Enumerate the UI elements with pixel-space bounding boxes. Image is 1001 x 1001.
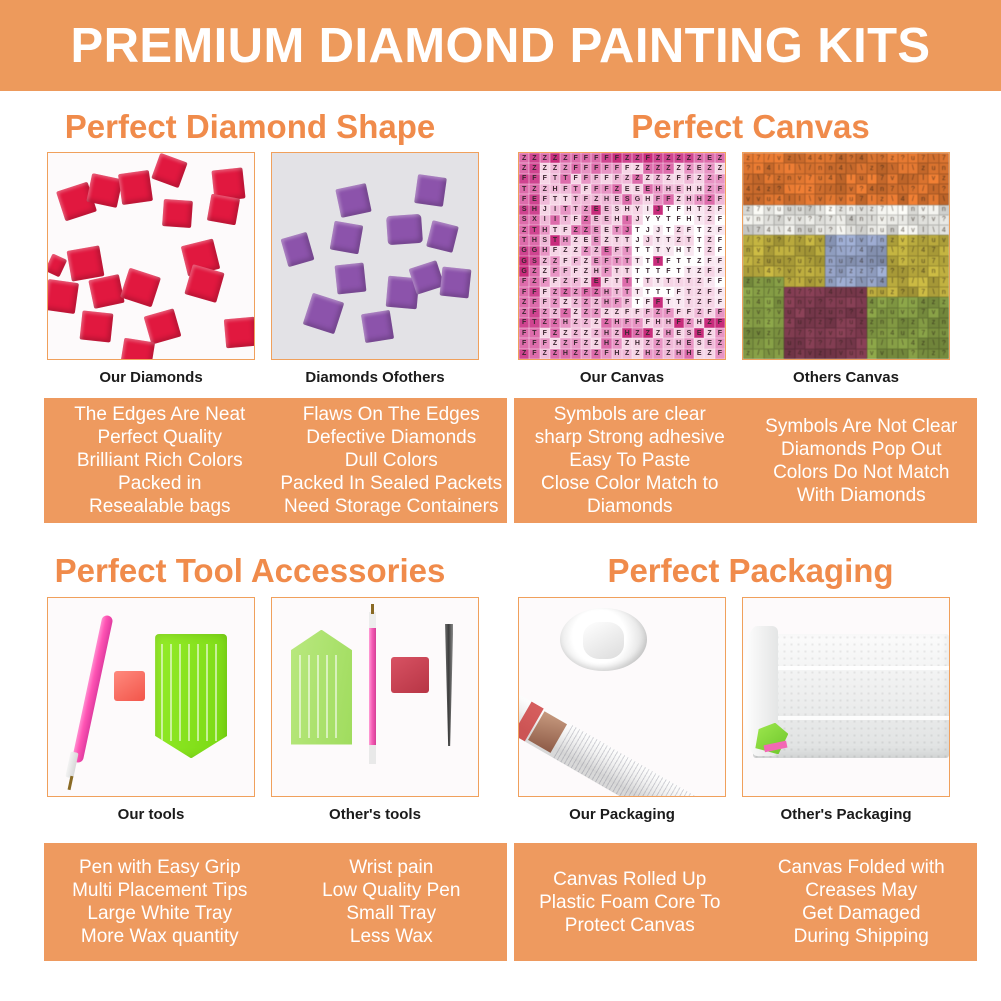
- canvas-symbol-cell: l: [887, 277, 897, 287]
- canvas-symbol-cell: F: [550, 246, 560, 256]
- canvas-symbol-cell: F: [684, 308, 694, 318]
- canvas-symbol-cell: 4: [918, 246, 928, 256]
- canvas-symbol-cell: F: [529, 349, 539, 359]
- fact-line: Low Quality Pen: [322, 879, 460, 902]
- canvas-symbol-cell: v: [908, 215, 918, 225]
- canvas-symbol-cell: E: [591, 225, 601, 235]
- canvas-symbol-cell: v: [743, 308, 753, 318]
- canvas-symbol-cell: ?: [887, 266, 897, 276]
- canvas-symbol-cell: /: [784, 328, 794, 338]
- fact-line: Packed in: [118, 472, 201, 495]
- fact-line: The Edges Are Neat: [74, 403, 245, 426]
- canvas-symbol-cell: \: [887, 246, 897, 256]
- canvas-symbol-cell: Z: [643, 328, 653, 338]
- canvas-symbol-cell: Z: [591, 338, 601, 348]
- canvas-symbol-cell: Z: [581, 349, 591, 359]
- canvas-symbol-cell: F: [612, 246, 622, 256]
- canvas-symbol-cell: F: [715, 174, 725, 184]
- canvas-symbol-cell: E: [632, 184, 642, 194]
- canvas-symbol-cell: Z: [643, 338, 653, 348]
- factcol-our-diamonds: The Edges Are Neat Perfect Quality Brill…: [44, 398, 276, 523]
- canvas-symbol-cell: T: [632, 246, 642, 256]
- canvas-symbol-cell: F: [674, 215, 684, 225]
- canvas-symbol-cell: l: [846, 297, 856, 307]
- canvas-symbol-cell: Z: [704, 174, 714, 184]
- canvas-symbol-cell: v: [928, 308, 938, 318]
- canvas-symbol-cell: E: [694, 349, 704, 359]
- canvas-symbol-cell: F: [540, 194, 550, 204]
- fact-line: Creases May: [805, 879, 917, 902]
- canvas-symbol-cell: 4: [784, 318, 794, 328]
- canvas-symbol-cell: Z: [601, 235, 611, 245]
- canvas-symbol-cell: T: [622, 235, 632, 245]
- canvas-symbol-cell: F: [622, 308, 632, 318]
- canvas-symbol-cell: u: [836, 328, 846, 338]
- canvas-symbol-cell: \: [898, 349, 908, 359]
- canvas-symbol-cell: \: [898, 338, 908, 348]
- canvas-symbol-cell: \: [856, 297, 866, 307]
- canvas-symbol-cell: v: [743, 194, 753, 204]
- canvas-symbol-cell: v: [825, 328, 835, 338]
- canvas-symbol-cell: Z: [694, 308, 704, 318]
- canvas-symbol-cell: F: [601, 174, 611, 184]
- canvas-symbol-cell: l: [825, 349, 835, 359]
- canvas-symbol-cell: l: [815, 266, 825, 276]
- canvas-symbol-cell: Z: [704, 194, 714, 204]
- fact-line: Less Wax: [350, 925, 433, 948]
- canvas-symbol-cell: H: [684, 194, 694, 204]
- canvas-symbol-cell: Z: [663, 338, 673, 348]
- canvas-symbol-cell: Z: [653, 163, 663, 173]
- canvas-symbol-cell: \: [928, 153, 938, 163]
- canvas-symbol-cell: E: [591, 235, 601, 245]
- canvas-symbol-cell: ?: [846, 308, 856, 318]
- tube-cap-inner: [583, 622, 624, 660]
- canvas-symbol-cell: T: [622, 256, 632, 266]
- canvas-symbol-cell: \: [836, 246, 846, 256]
- canvas-symbol-cell: Z: [622, 338, 632, 348]
- canvas-symbol-cell: u: [877, 256, 887, 266]
- canvas-symbol-cell: Z: [674, 235, 684, 245]
- canvas-symbol-cell: 7: [753, 225, 763, 235]
- canvas-symbol-cell: Z: [571, 246, 581, 256]
- canvas-symbol-cell: Z: [581, 277, 591, 287]
- fact-line: More Wax quantity: [81, 925, 239, 948]
- canvas-symbol-cell: T: [571, 205, 581, 215]
- canvas-symbol-cell: \: [856, 328, 866, 338]
- canvas-symbol-cell: z: [877, 194, 887, 204]
- canvas-symbol-cell: 4: [939, 225, 949, 235]
- canvas-symbol-cell: \: [939, 266, 949, 276]
- canvas-symbol-cell: H: [560, 235, 570, 245]
- factcol-other-tools: Wrist pain Low Quality Pen Small Tray Le…: [276, 843, 508, 961]
- canvas-symbol-cell: F: [581, 287, 591, 297]
- canvas-symbol-cell: 7: [939, 277, 949, 287]
- canvas-symbol-cell: u: [795, 318, 805, 328]
- canvas-symbol-cell: H: [550, 184, 560, 194]
- canvas-symbol-cell: E: [612, 194, 622, 204]
- canvas-symbol-cell: Z: [529, 277, 539, 287]
- canvas-symbol-cell: u: [908, 297, 918, 307]
- canvas-symbol-cell: v: [795, 266, 805, 276]
- canvas-symbol-cell: T: [632, 256, 642, 266]
- canvas-symbol-cell: Z: [653, 308, 663, 318]
- canvas-symbol-cell: 7: [856, 194, 866, 204]
- canvas-symbol-cell: l: [774, 349, 784, 359]
- canvas-symbol-cell: 7: [846, 328, 856, 338]
- canvas-symbol-cell: 7: [825, 246, 835, 256]
- canvas-symbol-cell: H: [643, 349, 653, 359]
- canvas-symbol-cell: /: [774, 318, 784, 328]
- canvas-symbol-cell: T: [612, 256, 622, 266]
- canvas-symbol-cell: \: [928, 225, 938, 235]
- canvas-symbol-cell: F: [591, 174, 601, 184]
- canvas-symbol-cell: T: [529, 225, 539, 235]
- canvas-symbol-cell: H: [684, 184, 694, 194]
- canvas-symbol-cell: z: [908, 235, 918, 245]
- canvas-symbol-cell: z: [825, 266, 835, 276]
- canvas-symbol-cell: G: [529, 246, 539, 256]
- canvas-symbol-cell: z: [784, 349, 794, 359]
- canvas-symbol-cell: F: [519, 318, 529, 328]
- factbox-diamond-shape: The Edges Are Neat Perfect Quality Brill…: [44, 398, 507, 523]
- canvas-symbol-cell: v: [764, 205, 774, 215]
- canvas-symbol-cell: F: [519, 277, 529, 287]
- canvas-symbol-cell: ?: [805, 215, 815, 225]
- canvas-symbol-cell: E: [674, 328, 684, 338]
- canvas-symbol-cell: /: [743, 174, 753, 184]
- canvas-symbol-cell: ?: [815, 297, 825, 307]
- canvas-symbol-cell: F: [529, 308, 539, 318]
- canvas-symbol-cell: z: [743, 318, 753, 328]
- canvas-symbol-cell: u: [939, 328, 949, 338]
- canvas-symbol-cell: v: [784, 215, 794, 225]
- canvas-symbol-cell: 4: [908, 338, 918, 348]
- canvas-symbol-cell: /: [877, 338, 887, 348]
- photo-our-canvas: ZZZZZFFFFFZZFZZZZZEZZZZZZFFFFFFZZZZZZEZZ…: [518, 152, 726, 360]
- canvas-symbol-cell: F: [560, 184, 570, 194]
- canvas-symbol-cell: T: [663, 297, 673, 307]
- infographic-page: PREMIUM DIAMOND PAINTING KITS Perfect Di…: [0, 0, 1001, 1001]
- canvas-symbol-cell: /: [898, 174, 908, 184]
- canvas-symbol-cell: I: [643, 205, 653, 215]
- canvas-symbol-cell: 4: [887, 328, 897, 338]
- canvas-symbol-cell: n: [867, 225, 877, 235]
- canvas-symbol-cell: Z: [632, 163, 642, 173]
- canvas-symbol-cell: F: [540, 287, 550, 297]
- canvas-symbol-cell: ?: [805, 328, 815, 338]
- canvas-symbol-cell: F: [663, 266, 673, 276]
- canvas-symbol-cell: E: [601, 215, 611, 225]
- canvas-symbol-cell: ?: [846, 153, 856, 163]
- canvas-symbol-cell: v: [774, 277, 784, 287]
- canvas-symbol-cell: /: [825, 194, 835, 204]
- canvas-symbol-cell: F: [591, 163, 601, 173]
- canvas-symbol-cell: \: [774, 225, 784, 235]
- canvas-symbol-cell: /: [805, 246, 815, 256]
- small-green-tray: [291, 630, 353, 745]
- canvas-symbol-cell: v: [795, 215, 805, 225]
- canvas-symbol-cell: F: [715, 205, 725, 215]
- canvas-symbol-cell: z: [887, 235, 897, 245]
- canvas-symbol-cell: T: [674, 266, 684, 276]
- canvas-symbol-cell: H: [694, 318, 704, 328]
- canvas-symbol-cell: /: [764, 153, 774, 163]
- canvas-symbol-cell: E: [704, 338, 714, 348]
- canvas-symbol-cell: \: [928, 338, 938, 348]
- canvas-symbol-cell: T: [612, 225, 622, 235]
- canvas-symbol-cell: Z: [591, 349, 601, 359]
- canvas-symbol-cell: /: [784, 235, 794, 245]
- canvas-symbol-cell: u: [877, 225, 887, 235]
- canvas-symbol-cell: F: [643, 153, 653, 163]
- photo-others-canvas: z7/vz\4474?4\?z?u7\7?n4ll\/nn4\\z?\l\zun…: [742, 152, 950, 360]
- canvas-symbol-cell: \: [846, 287, 856, 297]
- canvas-symbol-cell: ?: [939, 338, 949, 348]
- canvas-symbol-cell: /: [764, 287, 774, 297]
- fact-line: Get Damaged: [802, 902, 920, 925]
- canvas-symbol-cell: /: [867, 246, 877, 256]
- canvas-symbol-cell: n: [815, 163, 825, 173]
- canvas-symbol-cell: v: [877, 349, 887, 359]
- canvas-symbol-cell: u: [846, 318, 856, 328]
- canvas-symbol-cell: F: [519, 338, 529, 348]
- canvas-symbol-cell: F: [519, 287, 529, 297]
- canvas-symbol-cell: ?: [939, 215, 949, 225]
- canvas-symbol-cell: Z: [540, 318, 550, 328]
- canvas-symbol-cell: v: [846, 184, 856, 194]
- canvas-symbol-cell: F: [612, 174, 622, 184]
- canvas-symbol-cell: J: [632, 235, 642, 245]
- canvas-symbol-cell: T: [550, 225, 560, 235]
- canvas-symbol-cell: H: [622, 328, 632, 338]
- canvas-symbol-cell: u: [805, 225, 815, 235]
- canvas-symbol-cell: Z: [663, 153, 673, 163]
- canvas-symbol-cell: l: [908, 287, 918, 297]
- canvas-symbol-cell: 4: [918, 297, 928, 307]
- canvas-symbol-cell: 7: [867, 266, 877, 276]
- canvas-symbol-cell: Z: [560, 297, 570, 307]
- canvas-symbol-cell: E: [694, 163, 704, 173]
- canvas-symbol-cell: I: [540, 215, 550, 225]
- canvas-symbol-cell: u: [887, 308, 897, 318]
- canvas-symbol-cell: l: [795, 277, 805, 287]
- canvas-symbol-cell: Z: [581, 318, 591, 328]
- canvas-symbol-cell: H: [694, 184, 704, 194]
- canvas-symbol-cell: v: [856, 205, 866, 215]
- canvas-symbol-cell: H: [529, 235, 539, 245]
- bubble-mailer-image: [743, 598, 949, 796]
- canvas-symbol-cell: F: [674, 308, 684, 318]
- canvas-symbol-cell: F: [581, 174, 591, 184]
- canvas-symbol-cell: ?: [939, 349, 949, 359]
- canvas-symbol-cell: z: [928, 297, 938, 307]
- canvas-symbol-cell: H: [653, 318, 663, 328]
- canvas-symbol-cell: z: [764, 328, 774, 338]
- canvas-symbol-cell: T: [632, 277, 642, 287]
- thin-pen-cap: [369, 612, 376, 628]
- canvas-symbol-cell: z: [815, 318, 825, 328]
- canvas-symbol-cell: z: [815, 349, 825, 359]
- canvas-symbol-cell: H: [694, 194, 704, 204]
- canvas-symbol-cell: u: [784, 338, 794, 348]
- canvas-symbol-cell: F: [601, 349, 611, 359]
- canvas-symbol-cell: 4: [764, 266, 774, 276]
- canvas-symbol-cell: l: [795, 194, 805, 204]
- canvas-symbol-cell: Z: [550, 287, 560, 297]
- canvas-symbol-cell: H: [663, 184, 673, 194]
- canvas-symbol-cell: u: [825, 308, 835, 318]
- canvas-symbol-cell: v: [774, 308, 784, 318]
- canvas-symbol-cell: 7: [805, 338, 815, 348]
- canvas-symbol-cell: H: [684, 349, 694, 359]
- canvas-symbol-cell: v: [743, 215, 753, 225]
- canvas-symbol-cell: H: [684, 215, 694, 225]
- canvas-symbol-cell: F: [715, 246, 725, 256]
- canvas-symbol-cell: Z: [663, 349, 673, 359]
- fact-line: Multi Placement Tips: [72, 879, 247, 902]
- canvas-symbol-cell: ?: [856, 184, 866, 194]
- canvas-symbol-cell: 4: [825, 174, 835, 184]
- photo-our-tools: [47, 597, 255, 797]
- canvas-symbol-cell: l: [887, 318, 897, 328]
- canvas-symbol-cell: n: [743, 246, 753, 256]
- canvas-symbol-cell: /: [743, 235, 753, 245]
- canvas-symbol-cell: H: [560, 349, 570, 359]
- canvas-symbol-cell: \: [815, 287, 825, 297]
- canvas-symbol-cell: F: [571, 153, 581, 163]
- canvas-symbol-cell: Z: [715, 163, 725, 173]
- canvas-symbol-cell: 7: [753, 153, 763, 163]
- factcol-others-canvas: Symbols Are Not Clear Diamonds Pop Out C…: [746, 398, 978, 523]
- canvas-symbol-cell: l: [856, 338, 866, 348]
- canvas-symbol-cell: z: [939, 297, 949, 307]
- canvas-symbol-cell: T: [643, 287, 653, 297]
- canvas-symbol-cell: Z: [581, 246, 591, 256]
- canvas-symbol-cell: H: [540, 225, 550, 235]
- canvas-symbol-cell: n: [836, 235, 846, 245]
- fact-line: Easy To Paste: [569, 449, 690, 472]
- canvas-symbol-cell: F: [653, 297, 663, 307]
- canvas-symbol-cell: T: [571, 184, 581, 194]
- canvas-symbol-cell: J: [540, 205, 550, 215]
- canvas-symbol-cell: l: [898, 163, 908, 173]
- caption-our-tools: Our tools: [47, 806, 255, 823]
- canvas-symbol-cell: u: [784, 308, 794, 318]
- canvas-symbol-cell: 4: [836, 163, 846, 173]
- red-diamonds-image: [48, 153, 254, 359]
- canvas-symbol-cell: 7: [774, 215, 784, 225]
- canvas-symbol-cell: z: [805, 184, 815, 194]
- canvas-symbol-cell: F: [571, 266, 581, 276]
- canvas-symbol-cell: z: [825, 205, 835, 215]
- canvas-symbol-cell: H: [643, 194, 653, 204]
- canvas-symbol-cell: 7: [877, 246, 887, 256]
- canvas-symbol-cell: u: [836, 266, 846, 276]
- canvas-symbol-cell: E: [581, 235, 591, 245]
- canvas-symbol-cell: l: [928, 205, 938, 215]
- canvas-symbol-cell: Z: [704, 318, 714, 328]
- canvas-symbol-cell: u: [764, 256, 774, 266]
- canvas-symbol-cell: F: [704, 308, 714, 318]
- wax-square: [391, 657, 428, 693]
- canvas-symbol-cell: S: [519, 205, 529, 215]
- canvas-symbol-cell: z: [918, 338, 928, 348]
- canvas-symbol-cell: l: [846, 225, 856, 235]
- canvas-symbol-cell: v: [908, 256, 918, 266]
- canvas-symbol-cell: Z: [581, 266, 591, 276]
- canvas-symbol-cell: S: [684, 328, 694, 338]
- canvas-symbol-cell: T: [694, 235, 704, 245]
- canvas-symbol-cell: 4: [908, 328, 918, 338]
- canvas-symbol-cell: 4: [867, 297, 877, 307]
- canvas-symbol-cell: Z: [704, 205, 714, 215]
- canvas-symbol-cell: u: [764, 235, 774, 245]
- canvas-symbol-cell: l: [784, 246, 794, 256]
- canvas-symbol-cell: X: [529, 215, 539, 225]
- canvas-symbol-cell: G: [519, 266, 529, 276]
- canvas-symbol-cell: v: [805, 349, 815, 359]
- canvas-symbol-cell: F: [632, 308, 642, 318]
- canvas-symbol-cell: 7: [887, 297, 897, 307]
- canvas-symbol-cell: v: [753, 194, 763, 204]
- canvas-symbol-cell: n: [939, 318, 949, 328]
- canvas-symbol-cell: 4: [825, 287, 835, 297]
- canvas-symbol-cell: H: [653, 184, 663, 194]
- canvas-symbol-cell: z: [867, 163, 877, 173]
- canvas-symbol-cell: u: [743, 287, 753, 297]
- canvas-symbol-cell: F: [529, 297, 539, 307]
- canvas-symbol-cell: /: [753, 338, 763, 348]
- canvas-symbol-cell: 7: [918, 308, 928, 318]
- canvas-symbol-cell: /: [836, 287, 846, 297]
- our-tools-image: [48, 598, 254, 796]
- canvas-symbol-cell: v: [805, 235, 815, 245]
- canvas-symbol-cell: ?: [784, 277, 794, 287]
- canvas-symbol-cell: Z: [715, 338, 725, 348]
- canvas-symbol-cell: \: [815, 246, 825, 256]
- canvas-symbol-cell: H: [612, 349, 622, 359]
- canvas-symbol-cell: n: [928, 266, 938, 276]
- canvas-symbol-cell: v: [836, 194, 846, 204]
- canvas-symbol-cell: T: [653, 277, 663, 287]
- canvas-symbol-cell: 7: [805, 174, 815, 184]
- canvas-symbol-cell: T: [632, 225, 642, 235]
- canvas-symbol-cell: 7: [795, 308, 805, 318]
- canvas-symbol-cell: Z: [684, 318, 694, 328]
- canvas-symbol-cell: T: [663, 287, 673, 297]
- fact-line: Close Color Match to: [541, 472, 718, 495]
- canvas-symbol-cell: Z: [540, 308, 550, 318]
- fact-line: Pen with Easy Grip: [79, 856, 241, 879]
- canvas-symbol-cell: ?: [805, 287, 815, 297]
- canvas-symbol-cell: H: [601, 338, 611, 348]
- canvas-symbol-cell: Y: [663, 246, 673, 256]
- canvas-symbol-cell: F: [684, 174, 694, 184]
- canvas-symbol-cell: n: [939, 287, 949, 297]
- canvas-symbol-cell: z: [836, 205, 846, 215]
- canvas-symbol-cell: E: [591, 205, 601, 215]
- canvas-symbol-cell: l: [784, 194, 794, 204]
- others-canvas-image: z7/vz\4474?4\?z?u7\7?n4ll\/nn4\\z?\l\zun…: [743, 153, 949, 359]
- canvas-symbol-cell: F: [612, 163, 622, 173]
- canvas-symbol-cell: n: [856, 215, 866, 225]
- thin-pink-pen: [369, 622, 376, 761]
- canvas-symbol-cell: Z: [663, 163, 673, 173]
- green-tray: [155, 634, 227, 759]
- canvas-symbol-cell: Z: [694, 153, 704, 163]
- canvas-symbol-cell: v: [908, 308, 918, 318]
